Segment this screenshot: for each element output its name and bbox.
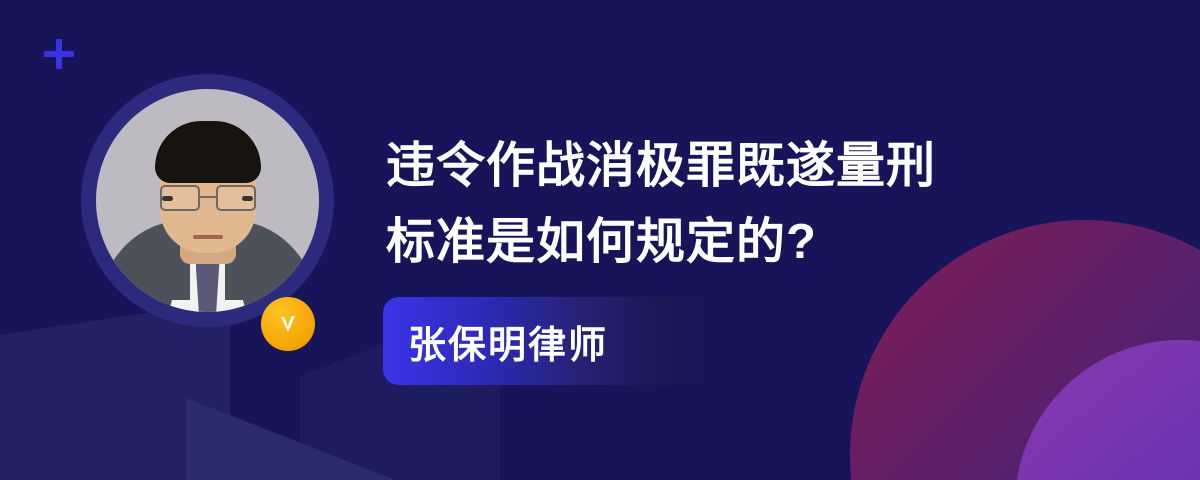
verified-check-icon (261, 297, 315, 351)
glasses-bridge (200, 196, 216, 198)
portrait-mouth (193, 235, 223, 239)
author-name-label: 张保明律师 (383, 314, 608, 369)
plus-icon (44, 39, 74, 69)
avatar-photo (96, 89, 319, 312)
page-title: 违令作战消极罪既遂量刑 标准是如何规定的? (386, 128, 1076, 280)
lawyer-question-banner: 违令作战消极罪既遂量刑 标准是如何规定的? 张保明律师 (0, 0, 1200, 480)
avatar[interactable] (81, 74, 334, 327)
portrait-hair (155, 121, 261, 183)
glasses-lens-left (160, 185, 200, 211)
author-name-badge[interactable]: 张保明律师 (383, 297, 710, 385)
glasses-lens-right (216, 185, 256, 211)
glasses-icon (160, 185, 256, 211)
